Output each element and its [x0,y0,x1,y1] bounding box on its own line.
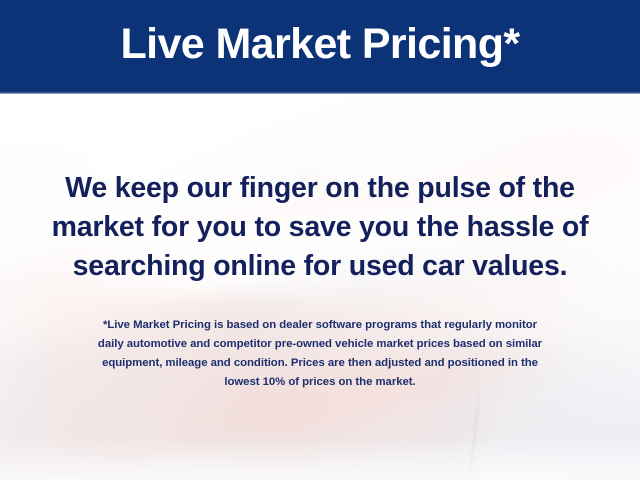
disclaimer-text: *Live Market Pricing is based on dealer … [0,316,640,392]
disclaimer-line-1: *Live Market Pricing is based on dealer … [0,316,640,335]
disclaimer-line-4: lowest 10% of prices on the market. [0,373,640,392]
headline-line-2: market for you to save you the hassle of [0,208,640,247]
page-title: Live Market Pricing* [120,23,519,69]
headline-line-1: We keep our finger on the pulse of the [0,169,640,208]
content-area: We keep our finger on the pulse of the m… [0,91,640,480]
header-banner: Live Market Pricing* [0,0,640,91]
headline-text: We keep our finger on the pulse of the m… [0,169,640,286]
disclaimer-line-3: equipment, mileage and condition. Prices… [0,354,640,373]
live-market-pricing-banner: Live Market Pricing* We keep our finger … [0,0,640,480]
disclaimer-line-2: daily automotive and competitor pre-owne… [0,335,640,354]
header-bottom-edge [0,91,640,94]
headline-line-3: searching online for used car values. [0,247,640,286]
